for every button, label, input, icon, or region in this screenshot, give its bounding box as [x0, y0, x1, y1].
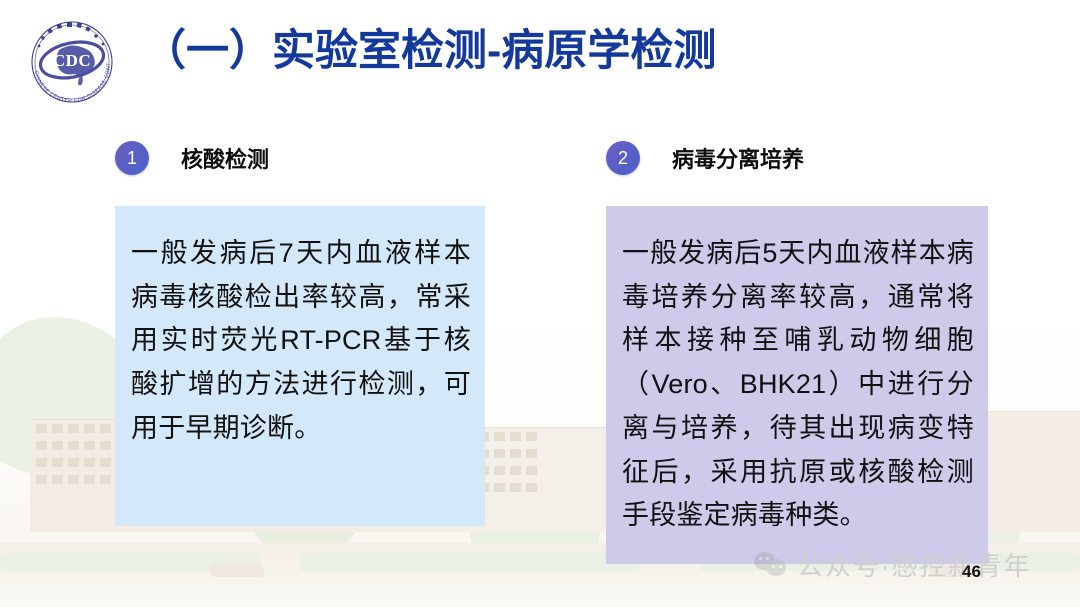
- section-number-badge-2: 2: [606, 141, 640, 175]
- section-heading: 1 核酸检测: [115, 136, 475, 180]
- section-nucleic-acid-test: 1 核酸检测 一般发病后7天内血液样本病毒核酸检出率较高，常采用实时荧光RT-P…: [115, 136, 475, 526]
- china-cdc-logo: CDC CHINESE CENTER FOR DISEASE CONTROL A…: [18, 14, 126, 106]
- section-body-box-1: 一般发病后7天内血液样本病毒核酸检出率较高，常采用实时荧光RT-PCR基于核酸扩…: [115, 206, 485, 526]
- section-heading: 2 病毒分离培养: [606, 136, 978, 180]
- slide-header: CDC CHINESE CENTER FOR DISEASE CONTROL A…: [0, 0, 1080, 110]
- section-body-box-2: 一般发病后5天内血液样本病毒培养分离率较高，通常将样本接种至哺乳动物细胞（Ver…: [606, 206, 988, 564]
- svg-text:CDC: CDC: [53, 51, 91, 70]
- section-number-badge-1: 1: [115, 141, 149, 175]
- background-tree: [470, 467, 600, 577]
- slide-canvas: CDC CHINESE CENTER FOR DISEASE CONTROL A…: [0, 0, 1080, 607]
- page-number: 46: [962, 562, 981, 582]
- section-title-1: 核酸检测: [181, 142, 269, 174]
- background-hedge: [0, 553, 260, 571]
- page-title: （一）实验室检测-病原学检测: [143, 26, 716, 78]
- background-hedge: [300, 553, 640, 571]
- background-car: [210, 562, 264, 577]
- section-virus-isolation-culture: 2 病毒分离培养 一般发病后5天内血液样本病毒培养分离率较高，通常将样本接种至哺…: [606, 136, 978, 564]
- section-title-2: 病毒分离培养: [672, 142, 804, 174]
